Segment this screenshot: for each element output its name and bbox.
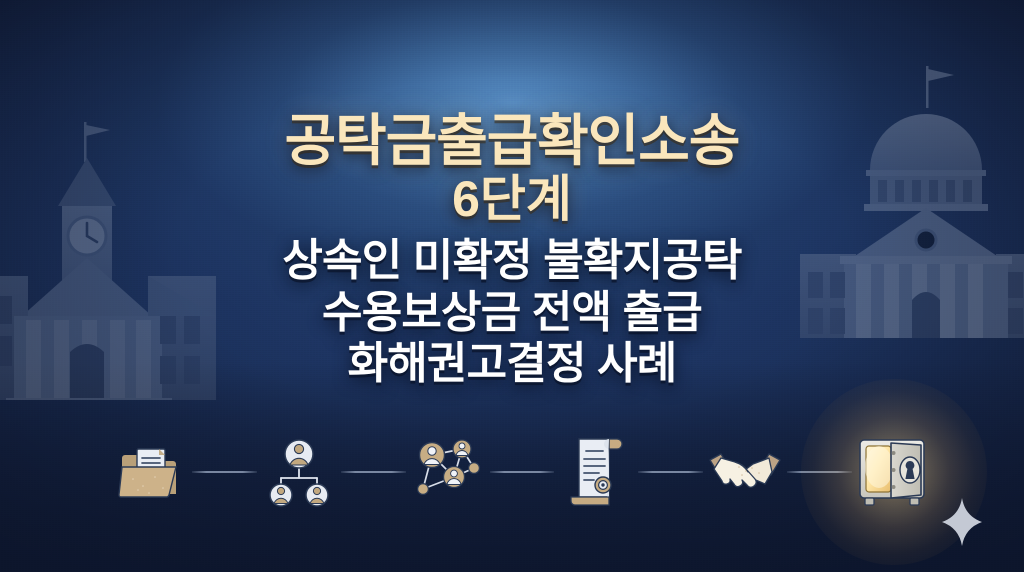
step-connector-1 [192,471,257,473]
family-tree-icon [266,438,332,506]
subtitle-line-2: 수용보상금 전액 출급 [0,287,1024,338]
page-title: 공탁금출급확인소송 [0,112,1024,170]
subtitle-line-3: 화해권고결정 사례 [0,338,1024,389]
step-2-family-tree [261,427,337,517]
step-connector-3 [490,471,555,473]
title-block: 공탁금출급확인소송 6단계 상속인 미확정 불확지공탁 수용보상금 전액 출급 … [0,112,1024,390]
step-connector-2 [341,471,406,473]
process-steps-row [112,424,932,520]
safe-vault-glowing-icon [855,433,933,511]
step-connector-4 [638,471,703,473]
people-network-icon [412,437,484,507]
step-count-title: 6단계 [0,172,1024,227]
step-3-people-network [410,427,486,517]
handshake-icon [709,447,781,497]
step-6-safe-vault [856,427,932,517]
step-1-folder [112,427,188,517]
step-connector-5 [787,471,852,473]
step-4-certificate [558,427,634,517]
folder-documents-icon [119,441,181,503]
thumbnail-canvas: 공탁금출급확인소송 6단계 상속인 미확정 불확지공탁 수용보상금 전액 출급 … [0,0,1024,572]
certificate-scroll-seal-icon [567,435,625,509]
step-5-handshake [707,427,783,517]
subtitle-line-1: 상속인 미확정 불확지공탁 [0,235,1024,286]
